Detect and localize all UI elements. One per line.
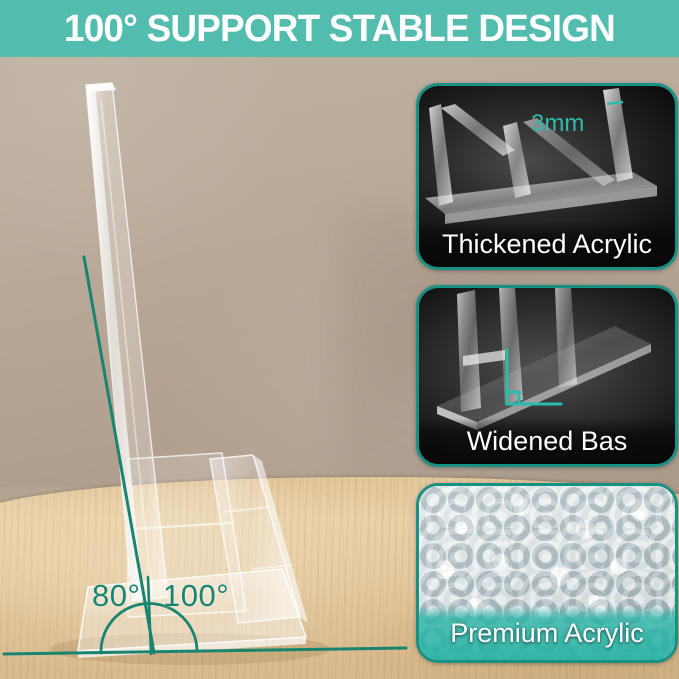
- angle-label-right: 100°: [163, 580, 229, 611]
- thickness-callout: 3mm: [531, 112, 584, 136]
- feature-panel-thickened-acrylic[interactable]: 3mm Thickened Acrylic: [416, 83, 678, 270]
- feature-panel-premium-acrylic[interactable]: Premium Acrylic: [416, 483, 678, 663]
- feature-panel-widened-base[interactable]: Widened Bas: [416, 285, 678, 467]
- angle-label-left: 80°: [92, 580, 140, 611]
- panel-label-widened-base: Widened Bas: [419, 418, 675, 464]
- panel-label-premium-acrylic: Premium Acrylic: [419, 606, 675, 660]
- feature-panel-list: 3mm Thickened Acrylic: [416, 83, 672, 663]
- headline-text: 100° SUPPORT STABLE DESIGN: [10, 0, 669, 57]
- panel-label-thickened-acrylic: Thickened Acrylic: [419, 221, 675, 267]
- acrylic-sign-holder: 80° 100°: [0, 57, 410, 679]
- header-banner: 100° SUPPORT STABLE DESIGN: [0, 0, 679, 57]
- product-feature-image: 100° SUPPORT STABLE DESIGN: [0, 0, 679, 679]
